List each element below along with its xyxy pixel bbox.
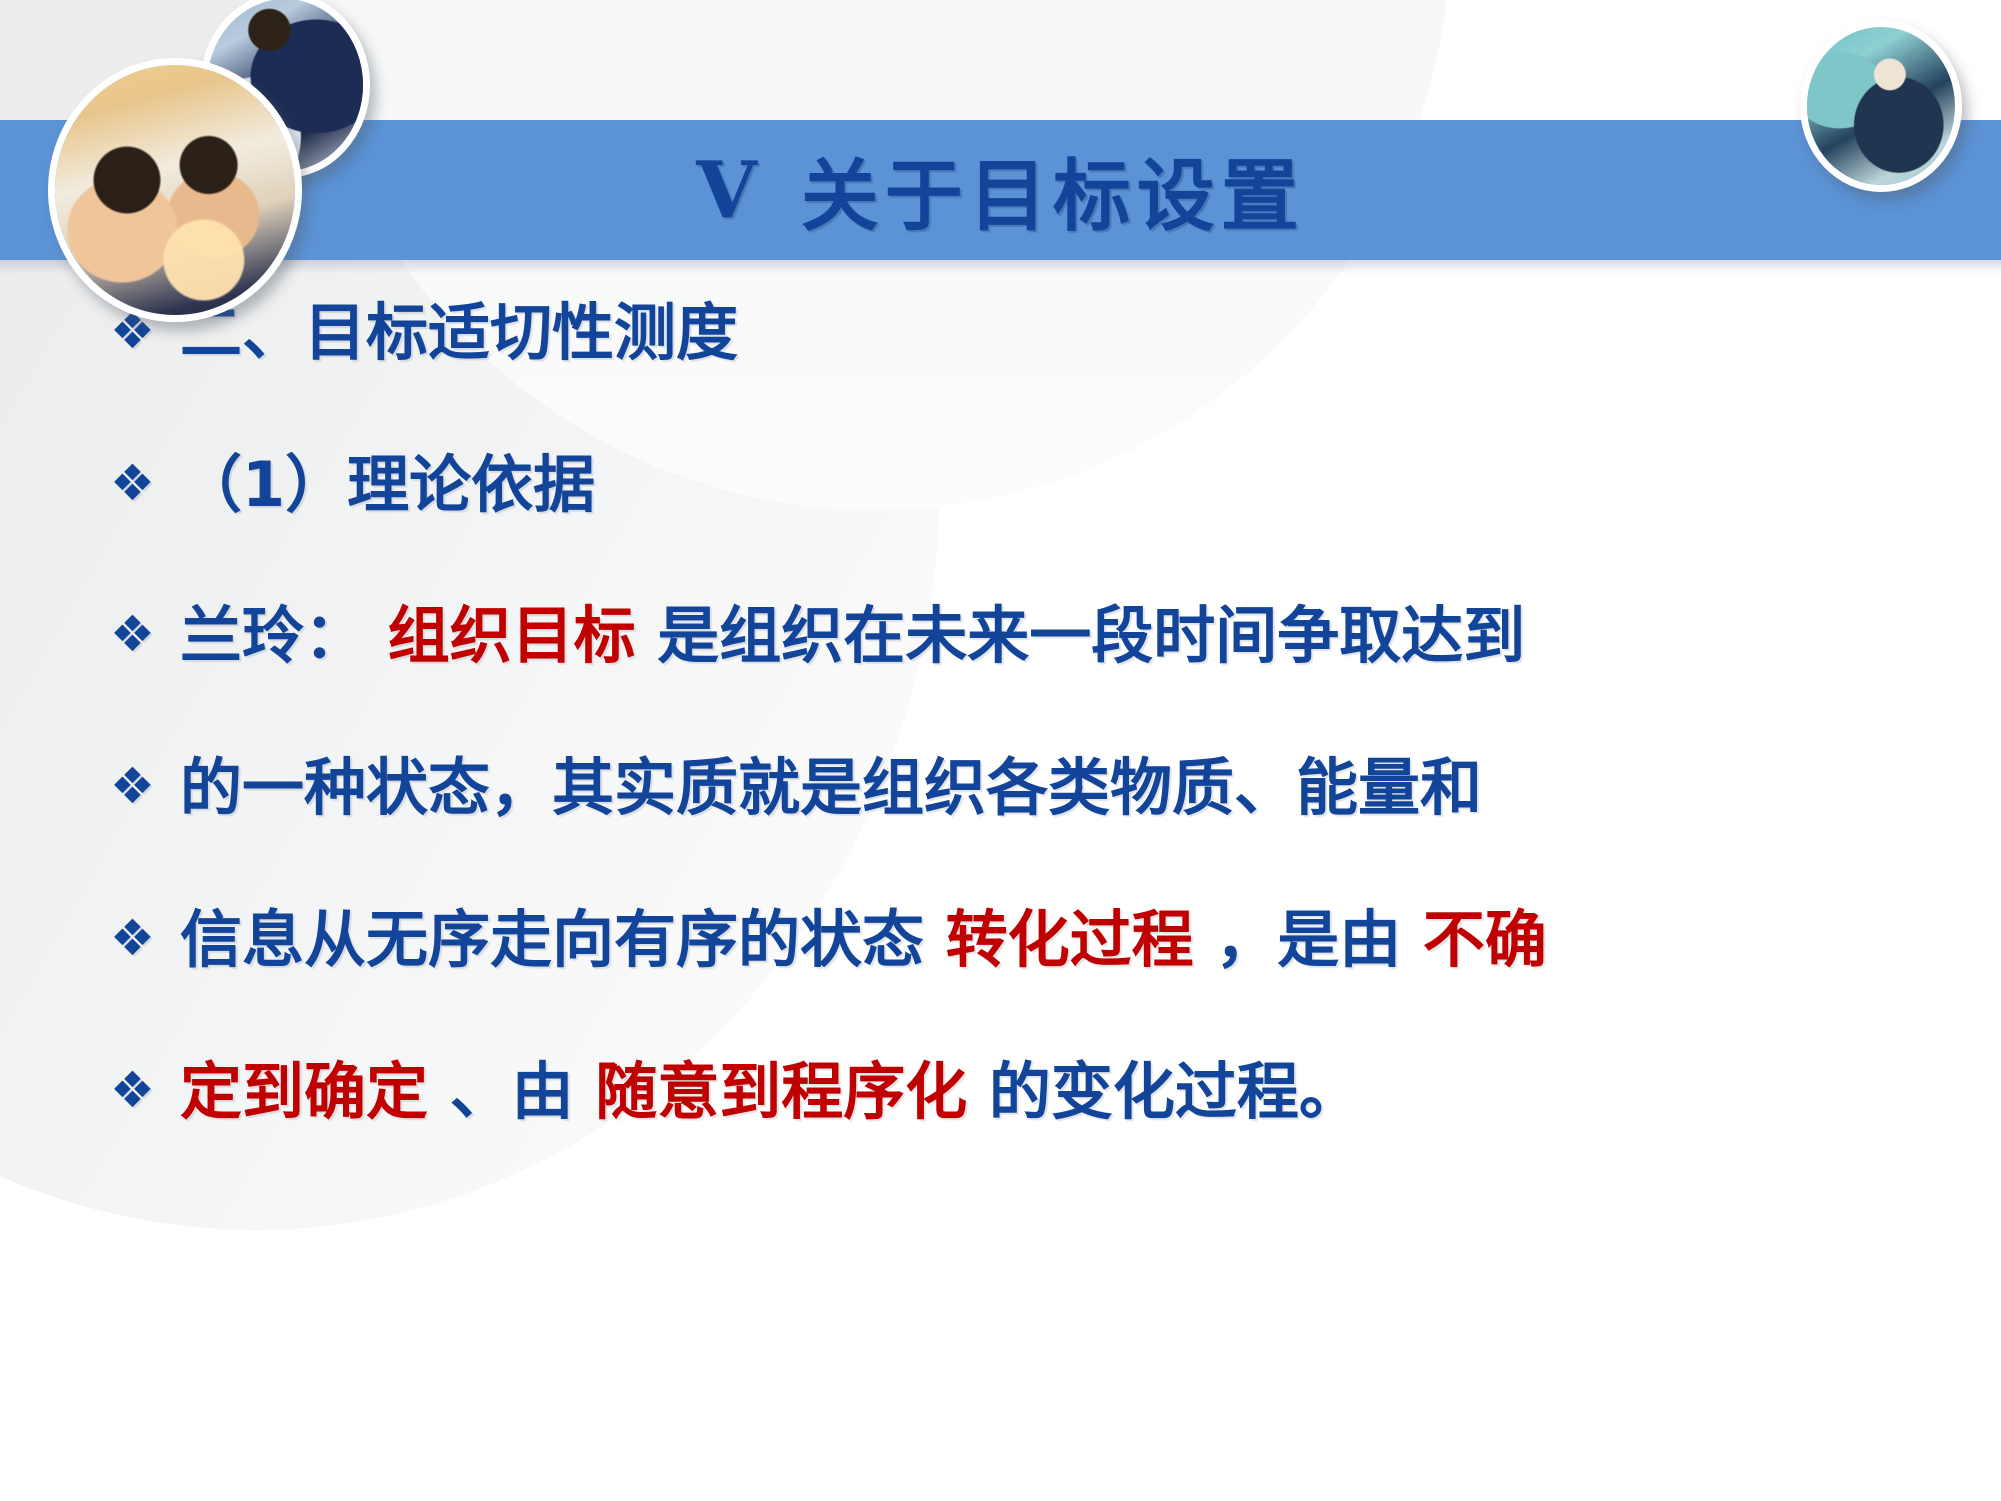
segment-emphasis: 不确 <box>1423 903 1547 976</box>
diamond-bullet-icon: ❖ <box>110 1059 180 1122</box>
bullet-line-1-text: 二、目标适切性测度 <box>180 300 738 366</box>
bullet-line-2: ❖ （1）理论依据 <box>110 452 1970 518</box>
bullet-line-3: ❖ 兰玲： 组织目标 是组织在未来一段时间争取达到 <box>110 603 1970 669</box>
segment-emphasis: 转化过程 <box>946 903 1194 976</box>
title-text: 关于目标设置 <box>801 134 1305 246</box>
bullet-line-5: ❖ 信息从无序走向有序的状态 转化过程 ，是由 不确 <box>110 907 1970 973</box>
segment: （1）理论依据 <box>180 448 595 521</box>
segment: 的一种状态，其实质就是组织各类物质、能量和 <box>180 751 1482 824</box>
photo-presenter-image <box>1807 27 1955 185</box>
title-numeral: Ⅴ <box>696 145 763 236</box>
segment: 信息从无序走向有序的状态 <box>180 903 924 976</box>
segment-emphasis: 组织目标 <box>388 599 636 672</box>
diamond-bullet-icon: ❖ <box>110 907 180 970</box>
title-band-shadow <box>0 260 2001 274</box>
slide-canvas: Ⅴ 关于目标设置 ❖ 二、目标适切性测度 ❖ （1）理论依据 ❖ 兰玲： 组织目… <box>0 0 2001 1501</box>
segment-emphasis: 定到确定 <box>180 1055 428 1128</box>
segment: 的变化过程。 <box>989 1055 1361 1128</box>
segment: 二、目标适切性测度 <box>180 296 738 369</box>
bullet-line-2-text: （1）理论依据 <box>180 452 595 518</box>
segment: ，是由 <box>1215 903 1401 976</box>
segment-emphasis: 随意到程序化 <box>595 1055 967 1128</box>
segment: 、由 <box>450 1055 574 1128</box>
body-content: ❖ 二、目标适切性测度 ❖ （1）理论依据 ❖ 兰玲： 组织目标 是组织在未来一… <box>110 300 1970 1176</box>
photo-office-workers-image <box>55 65 295 315</box>
photo-presenter <box>1800 20 1962 192</box>
segment: 兰玲： <box>180 599 366 672</box>
diamond-bullet-icon: ❖ <box>110 755 180 818</box>
segment: 是组织在未来一段时间争取达到 <box>657 599 1525 672</box>
bullet-line-6: ❖ 定到确定 、由 随意到程序化 的变化过程。 <box>110 1059 1970 1125</box>
diamond-bullet-icon: ❖ <box>110 603 180 666</box>
bullet-line-1: ❖ 二、目标适切性测度 <box>110 300 1970 366</box>
photo-office-workers <box>48 58 302 322</box>
bullet-line-6-text: 定到确定 、由 随意到程序化 的变化过程。 <box>180 1059 1361 1125</box>
bullet-line-5-text: 信息从无序走向有序的状态 转化过程 ，是由 不确 <box>180 907 1547 973</box>
diamond-bullet-icon: ❖ <box>110 452 180 515</box>
bullet-line-4: ❖ 的一种状态，其实质就是组织各类物质、能量和 <box>110 755 1970 821</box>
bullet-line-4-text: 的一种状态，其实质就是组织各类物质、能量和 <box>180 755 1482 821</box>
bullet-line-3-text: 兰玲： 组织目标 是组织在未来一段时间争取达到 <box>180 603 1525 669</box>
